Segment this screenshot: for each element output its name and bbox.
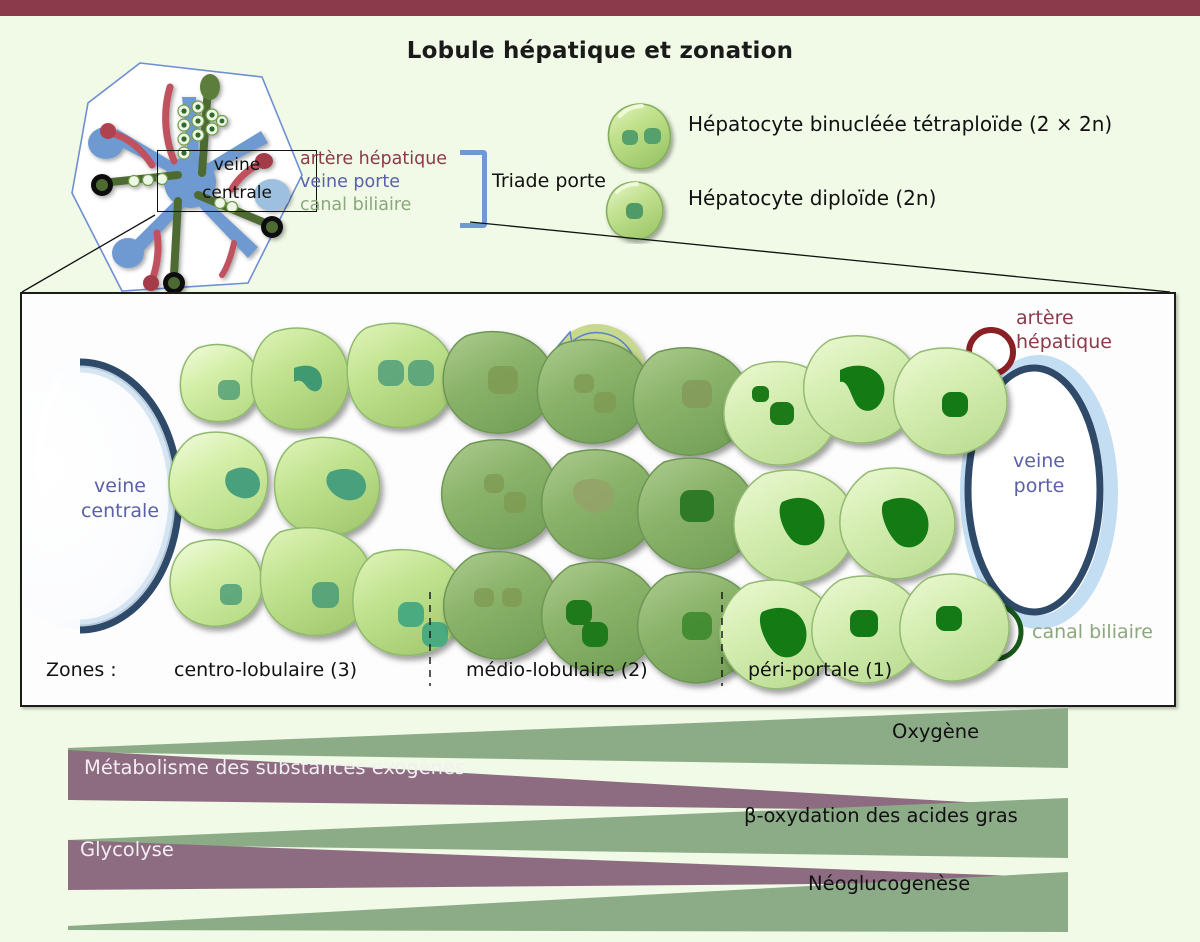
panel-portal-vein-label: veine porte (984, 449, 1094, 499)
panel-portal-vein-line2: porte (984, 474, 1094, 499)
central-vein-label-line2: centrale (158, 179, 316, 207)
zones-row: Zones : centro-lobulaire (3) médio-lobul… (22, 659, 1174, 689)
triad-item-hepatic-artery: artère hépatique (300, 148, 600, 171)
zone-label-mediolobular: médio-lobulaire (2) (466, 659, 648, 681)
panel-hepatic-artery-line2: hépatique (1016, 330, 1146, 354)
hepatocyte-mononucleate-icon (600, 178, 670, 244)
gradient-label-oxygene: Oxygène (892, 720, 979, 743)
triad-bracket (460, 150, 487, 228)
gradient-label-neoglucogenese: Néoglucogenèse (808, 872, 970, 895)
gradient-label-beta-oxydation: β-oxydation des acides gras (744, 804, 1018, 827)
panel-central-vein-line2: centrale (60, 499, 180, 524)
metabolic-gradient-chart: Oxygène Métabolisme des substances exogè… (0, 700, 1200, 942)
panel-central-vein-label: veine centrale (60, 474, 180, 524)
zone-label-centrolobular: centro-lobulaire (3) (174, 659, 357, 681)
diagram-root: Lobule hépatique et zonation (0, 0, 1200, 942)
gradient-label-metabolisme: Métabolisme des substances exogènes (84, 756, 465, 779)
panel-portal-vein-line1: veine (984, 449, 1094, 474)
zones-prefix: Zones : (46, 659, 117, 681)
gradient-label-glycolyse: Glycolyse (80, 838, 174, 861)
zonation-panel: veine centrale artère hépatique veine po… (20, 292, 1176, 707)
panel-bile-duct-label: canal biliaire (1032, 621, 1153, 643)
panel-hepatic-artery-line1: artère (1016, 306, 1146, 330)
legend-item-tetraploid: Hépatocyte binucléée tétraploïde (2 × 2n… (600, 100, 1200, 178)
triad-bracket-label: Triade porte (492, 170, 606, 192)
zone-label-periportal: péri-portale (1) (748, 659, 892, 681)
panel-hepatic-artery-label: artère hépatique (1016, 306, 1146, 354)
lobule-hexagon-illustration: veine centrale (62, 55, 314, 303)
legend-label-tetraploid: Hépatocyte binucléée tétraploïde (2 × 2n… (688, 112, 1112, 136)
triad-item-bile-duct: canal biliaire (300, 194, 600, 217)
gradient-triangles-svg (0, 700, 1200, 942)
central-vein-label-line1: veine (158, 151, 316, 179)
legend-label-diploid: Hépatocyte diploïde (2n) (688, 186, 936, 210)
hepatocyte-legend: Hépatocyte binucléée tétraploïde (2 × 2n… (600, 100, 1200, 256)
hepatocyte-binucleate-icon (600, 100, 678, 178)
legend-item-diploid: Hépatocyte diploïde (2n) (600, 178, 1200, 256)
central-vein-callout-box: veine centrale (157, 150, 317, 212)
top-accent-bar (0, 0, 1200, 16)
panel-central-vein-line1: veine (60, 474, 180, 499)
